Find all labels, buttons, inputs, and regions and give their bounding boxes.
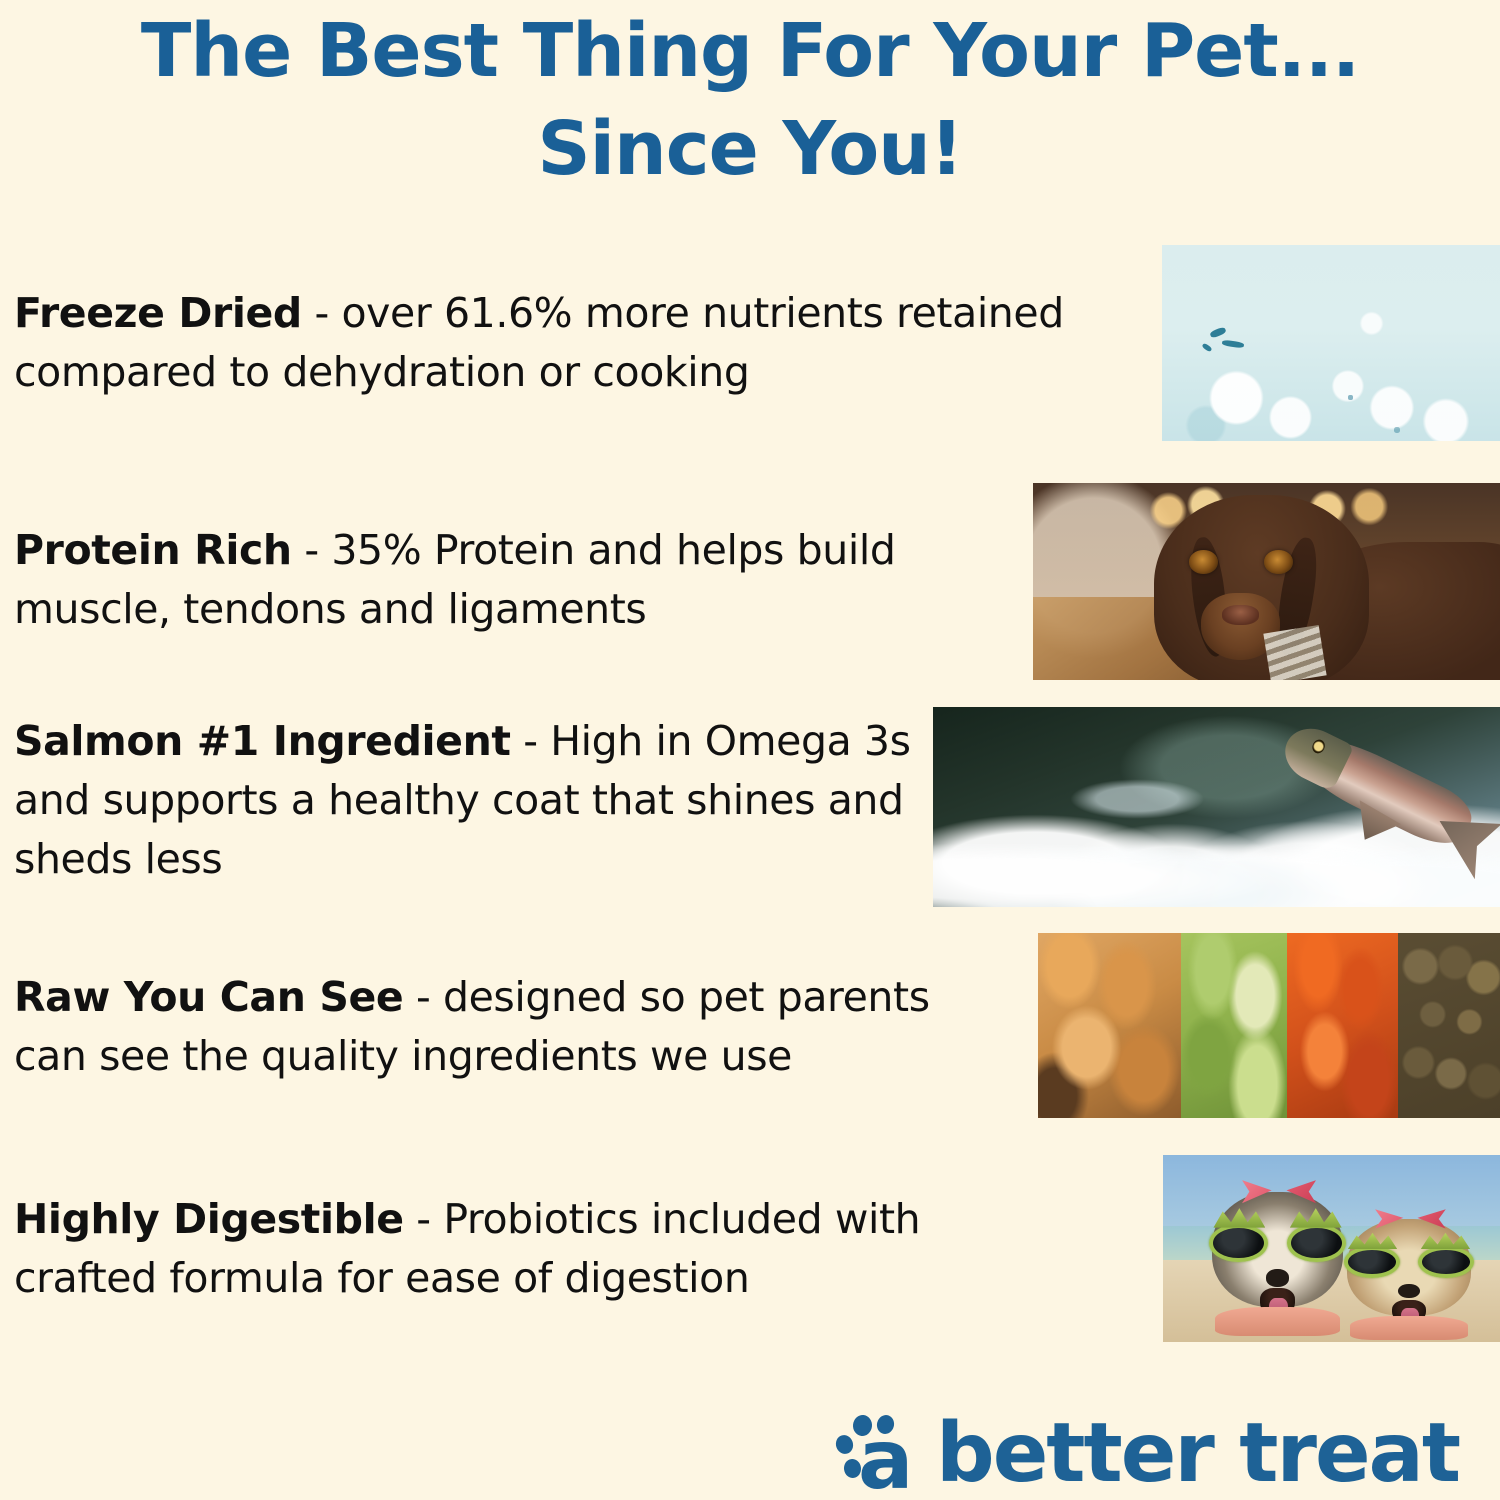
feature-item-raw-you-can-see: Raw You Can See - designed so pet parent…: [14, 968, 964, 1086]
ingredient-band-kibble: [1398, 933, 1500, 1118]
headline-line-1: The Best Thing For Your Pet...: [0, 2, 1500, 100]
frost-fleck: [1394, 427, 1400, 433]
frost-fleck: [1222, 339, 1245, 348]
frost-fleck: [1209, 326, 1226, 338]
two-dogs-sunglasses-photo: [1163, 1155, 1500, 1342]
dog-nose: [1266, 1269, 1290, 1287]
frost-fleck: [1201, 343, 1212, 353]
feature-item-salmon-ingredient: Salmon #1 Ingredient - High in Omega 3s …: [14, 712, 949, 889]
dog-nose: [1222, 605, 1259, 625]
leaping-salmon-photo: [933, 707, 1500, 907]
feature-item-highly-digestible: Highly Digestible - Probiotics included …: [14, 1190, 944, 1308]
feature-item-protein-rich: Protein Rich - 35% Protein and helps bui…: [14, 521, 924, 639]
dog-right: [1338, 1205, 1480, 1340]
dog-collar: [1263, 625, 1326, 680]
feature-term: Protein Rich: [14, 526, 292, 574]
feature-term: Highly Digestible: [14, 1195, 404, 1243]
dog-eye-left: [1189, 550, 1217, 574]
logo-wordmark: better treat: [936, 1412, 1459, 1496]
pineapple-sunglasses-icon: [1344, 1246, 1474, 1278]
paw-print-icon: a: [836, 1415, 920, 1493]
pineapple-sunglasses-icon: [1209, 1224, 1345, 1263]
brand-logo: a better treat: [836, 1412, 1459, 1496]
chocolate-labrador-photo: [1033, 483, 1500, 680]
feature-term: Raw You Can See: [14, 973, 403, 1021]
feature-item-freeze-dried: Freeze Dried - over 61.6% more nutrients…: [14, 284, 1084, 402]
paw-pad: [833, 1433, 855, 1456]
ingredient-band-carrot: [1287, 933, 1398, 1118]
sunglass-lens-left: [1344, 1246, 1400, 1278]
frost-fleck: [1348, 395, 1353, 400]
ingredient-band-salmon: [1038, 933, 1181, 1118]
page-title: The Best Thing For Your Pet... Since You…: [0, 0, 1500, 198]
sunglass-lens-right: [1287, 1224, 1346, 1263]
sunglass-lens-left: [1209, 1224, 1268, 1263]
headline-line-2: Since You!: [0, 100, 1500, 198]
feature-term: Salmon #1 Ingredient: [14, 717, 511, 765]
sunglass-lens-right: [1418, 1246, 1474, 1278]
dog-scarf: [1215, 1307, 1340, 1336]
frost-crystals-photo: [1162, 245, 1500, 441]
dog-left: [1203, 1176, 1351, 1337]
dog-scarf: [1350, 1316, 1469, 1340]
logo-letter-a: a: [858, 1433, 911, 1489]
freeze-dried-ingredients-photo: [1038, 933, 1500, 1118]
dog-eye-right: [1264, 550, 1292, 574]
ingredient-band-broccoli: [1181, 933, 1287, 1118]
feature-term: Freeze Dried: [14, 289, 302, 337]
